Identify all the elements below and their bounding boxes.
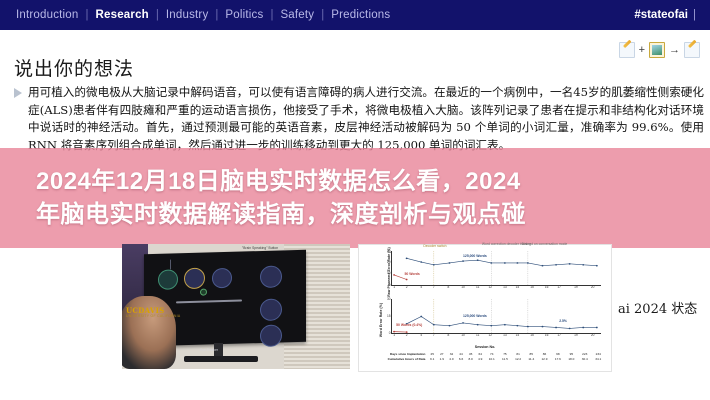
- chart2-xtick: 17: [557, 333, 561, 337]
- table-cell: 17.6: [551, 356, 564, 361]
- nav-item-politics[interactable]: Politics: [223, 9, 265, 21]
- chart2-ytick: 15: [387, 314, 391, 318]
- top-navigation-bar: Introduction | Research | Industry | Pol…: [0, 0, 710, 30]
- article-text: 用可植入的微电极从大脑记录中解码语音，可以使有语言障碍的病人进行交流。在最近的一…: [28, 85, 704, 152]
- chart1-annotation-decoder-switch: Decoder switch: [423, 244, 446, 248]
- chart2-svg: [392, 299, 601, 333]
- chart2-xtick: 11: [476, 333, 479, 337]
- chart-word-error-rate: Word Error Rate (%) 30 15 0: [365, 297, 605, 343]
- chart1-svg: [392, 251, 601, 285]
- chart2-xtick: 14: [516, 333, 520, 337]
- nav-separator: |: [265, 9, 278, 21]
- chart-raw-phoneme-error-rate: Raw Phoneme Error Rate (%) 30 20 10 0: [365, 249, 605, 295]
- chart1-ytick: 10: [387, 271, 391, 275]
- screen-pointer-line: [170, 260, 171, 270]
- chart1-annotation-125000-words: 125,000 Words: [463, 254, 487, 258]
- nav-separator: |: [316, 9, 329, 21]
- screen-bubble-decode: [260, 265, 282, 288]
- page-root: Introduction | Research | Industry | Pol…: [0, 0, 710, 400]
- photo-figure: Eye Tracker "Brain Speaking" Button UCDA…: [122, 244, 350, 369]
- table-cell: 18.0: [565, 356, 578, 361]
- chart2-xtick: 8: [448, 333, 450, 337]
- chart2-y-axis-label: Word Error Rate (%): [379, 303, 383, 337]
- chart1-xtick: 7: [433, 285, 435, 289]
- table-cell: 8.0: [466, 356, 476, 361]
- chart1-xtick: 17: [557, 285, 561, 289]
- table-cell: 9.1: [427, 356, 437, 361]
- chart2-annotation-final-rate: 2.5%: [559, 319, 567, 323]
- table-cell: 30.4: [578, 356, 591, 361]
- chart2-ytick: 0: [389, 331, 391, 335]
- table-cell: 12.2: [511, 356, 524, 361]
- chart1-ytick: 0: [389, 283, 391, 287]
- screen-bubble-pause: [184, 268, 205, 290]
- chart2-ytick: 30: [387, 297, 391, 301]
- nav-item-safety[interactable]: Safety: [278, 9, 316, 21]
- title-overlay-banner: 2024年12月18日脑电实时数据怎么看，2024 年脑电实时数据解读指南，深度…: [0, 148, 710, 248]
- chart2-plot-area: 30 15 0: [391, 299, 601, 334]
- chart2-xtick: 13: [503, 333, 507, 337]
- overlay-line-1: 2024年12月18日脑电实时数据怎么看，2024: [36, 165, 674, 198]
- picture-icon[interactable]: [649, 42, 665, 58]
- chart2-xtick: 16: [545, 333, 549, 337]
- nav-item-introduction[interactable]: Introduction: [14, 9, 81, 21]
- chart2-xtick: 15: [530, 333, 534, 337]
- pencil-icon[interactable]: [619, 42, 635, 58]
- chart1-xtick: 8: [448, 285, 450, 289]
- table-cell: 12.9: [538, 356, 551, 361]
- chart2-xtick: 1: [393, 333, 395, 337]
- chart2-xtick: 2: [406, 333, 408, 337]
- chart1-annotation-conversation-mode: Trained on conversation mode: [522, 242, 568, 246]
- figure-row: Eye Tracker "Brain Speaking" Button UCDA…: [0, 244, 710, 374]
- chart1-xtick: 20: [591, 285, 595, 289]
- screen-bubble-start: [158, 269, 178, 290]
- nav-item-industry[interactable]: Industry: [164, 9, 211, 21]
- screen-bubble-stop: [212, 268, 232, 289]
- table-row: Cumulative Hours of Data 9.1 1.9 4.0 6.6…: [365, 356, 605, 361]
- chart2-xtick: 19: [574, 333, 578, 337]
- chart1-xtick: 1: [393, 285, 395, 289]
- article-body: 用可植入的微电极从大脑记录中解码语音，可以使有语言障碍的病人进行交流。在最近的一…: [14, 84, 704, 154]
- hashtag-separator: |: [693, 9, 696, 21]
- chart2-xtick: 7: [433, 333, 435, 337]
- chart1-xtick: 19: [574, 285, 578, 289]
- overlay-line-2: 年脑电实时数据解读指南，深度剖析与观点碰: [36, 198, 674, 231]
- table-cell: 6.6: [456, 356, 466, 361]
- eye-tracker-label: Eye Tracker: [200, 348, 218, 352]
- chart1-xtick: 2: [406, 285, 408, 289]
- screen-bubble-extra: [260, 324, 282, 347]
- chart2-xtick: 4: [420, 333, 422, 337]
- chart1-xtick: 15: [530, 285, 534, 289]
- chart-x-axis-label: Session No.: [365, 345, 605, 349]
- chart1-xtick: 14: [516, 285, 520, 289]
- chart1-ytick: 20: [387, 260, 391, 264]
- chart2-xtick: 12: [488, 333, 492, 337]
- hashtag-label[interactable]: #stateofai: [634, 9, 688, 21]
- chart-data-table: Days since Implantation 25 27 34 44 45 6…: [365, 351, 605, 361]
- screen-play-button: [260, 298, 282, 321]
- page-title: 说出你的想法: [14, 54, 134, 81]
- table-cell: 1.9: [437, 356, 447, 361]
- screen-caption-line: [176, 300, 242, 304]
- chart1-annotation-50-words: 50 Words: [405, 272, 420, 276]
- chart2-annotation-125000-words: 125,000 Words: [463, 314, 487, 318]
- brain-speaking-button-label: "Brain Speaking" Button: [242, 246, 278, 250]
- right-side-note: ai 2024 状态: [618, 298, 697, 317]
- chart-figure: Raw Phoneme Error Rate (%) 30 20 10 0: [358, 244, 612, 372]
- table-row-label-hours: Cumulative Hours of Data: [365, 356, 427, 361]
- table-cell: 4.0: [447, 356, 457, 361]
- table-cell: 11.5: [498, 356, 511, 361]
- chart1-xtick: 10: [461, 285, 465, 289]
- plus-sign: +: [639, 42, 645, 58]
- table-cell: 4.9: [475, 356, 485, 361]
- chart1-xtick: 13: [503, 285, 507, 289]
- chart2-xtick: 10: [461, 333, 465, 337]
- nav-separator: |: [151, 9, 164, 21]
- table-cell: 34.1: [591, 356, 605, 361]
- chart1-xtick: 12: [488, 285, 492, 289]
- chart2-annotation-50-words: 50 Words (0.4%): [396, 323, 422, 327]
- chart1-xtick: 11: [476, 285, 479, 289]
- nav-items: Introduction | Research | Industry | Pol…: [14, 9, 392, 21]
- chart1-ytick: 30: [387, 249, 391, 253]
- table-cell: 10.1: [485, 356, 498, 361]
- table-cell: 11.4: [525, 356, 538, 361]
- hashtag-group: #stateofai |: [634, 9, 696, 21]
- nav-separator: |: [210, 9, 223, 21]
- screen-status-dot: [200, 289, 207, 296]
- chart1-plot-area: 30 20 10 0: [391, 251, 601, 286]
- eye-tracker-bar: [184, 356, 258, 362]
- arrow-right-icon: →: [669, 42, 680, 58]
- ucdavis-logo-sub: UNIVERSITY OF CALIFORNIA: [126, 314, 180, 318]
- pencil-icon[interactable]: [684, 42, 700, 58]
- chart2-xtick: 20: [591, 333, 595, 337]
- nav-item-research[interactable]: Research: [94, 9, 151, 21]
- header-tools: + →: [619, 42, 700, 58]
- chart1-xtick: 4: [420, 285, 422, 289]
- triangle-bullet-icon: [14, 88, 22, 98]
- nav-separator: |: [81, 9, 94, 21]
- nav-item-predictions[interactable]: Predictions: [329, 9, 392, 21]
- chart1-xtick: 16: [545, 285, 549, 289]
- article-paragraph: 用可植入的微电极从大脑记录中解码语音，可以使有语言障碍的病人进行交流。在最近的一…: [14, 84, 704, 154]
